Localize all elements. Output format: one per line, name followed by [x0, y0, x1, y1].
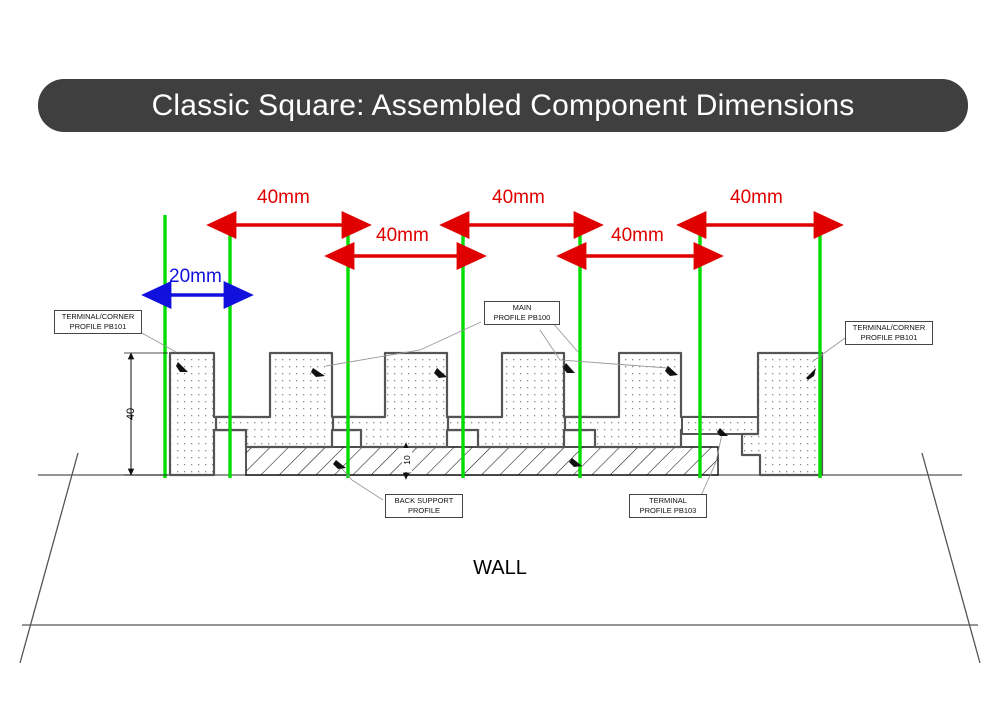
drawing-canvas: Classic Square: Assembled Component Dime… [0, 0, 1000, 707]
callout-line-2: PROFILE PB101 [849, 333, 929, 343]
leader-terminal-left [140, 332, 176, 352]
callout-line-1: TERMINAL [633, 496, 703, 506]
dim-label-40mm-b: 40mm [376, 226, 429, 245]
callout-line-1: TERMINAL/CORNER [58, 312, 138, 322]
dim-label-40mm-a: 40mm [257, 188, 310, 207]
callout-line-1: TERMINAL/CORNER [849, 323, 929, 333]
dim-label-40mm-c: 40mm [492, 188, 545, 207]
technical-drawing [0, 0, 1000, 707]
callout-line-2: PROFILE PB103 [633, 506, 703, 516]
callout-terminal-pb103: TERMINAL PROFILE PB103 [629, 494, 707, 518]
callout-line-1: BACK SUPPORT [389, 496, 459, 506]
wall-label: WALL [0, 557, 1000, 580]
leader-terminal-right [812, 338, 845, 362]
back-support-profile [246, 447, 718, 475]
dim-label-40mm-d: 40mm [611, 226, 664, 245]
callout-line-2: PROFILE PB101 [58, 322, 138, 332]
callout-main-profile: MAIN PROFILE PB100 [484, 301, 560, 325]
profile-main-2 [333, 353, 471, 447]
callout-line-2: PROFILE PB100 [488, 313, 556, 323]
leader-main-b [552, 322, 578, 352]
dim-label-20mm: 20mm [169, 267, 222, 286]
vertical-dim-label-40: 40 [125, 401, 137, 427]
dim-label-40mm-e: 40mm [730, 188, 783, 207]
callout-back-support: BACK SUPPORT PROFILE [385, 494, 463, 518]
callout-terminal-corner-right: TERMINAL/CORNER PROFILE PB101 [845, 321, 933, 345]
profile-main-1 [216, 353, 356, 447]
callout-terminal-corner-left: TERMINAL/CORNER PROFILE PB101 [54, 310, 142, 334]
callout-line-2: PROFILE [389, 506, 459, 516]
profile-terminal-corner-right [742, 353, 822, 475]
dimension-arrows-red [231, 225, 819, 256]
callout-line-1: MAIN [488, 303, 556, 313]
vertical-dim-label-10: 10 [402, 448, 412, 472]
